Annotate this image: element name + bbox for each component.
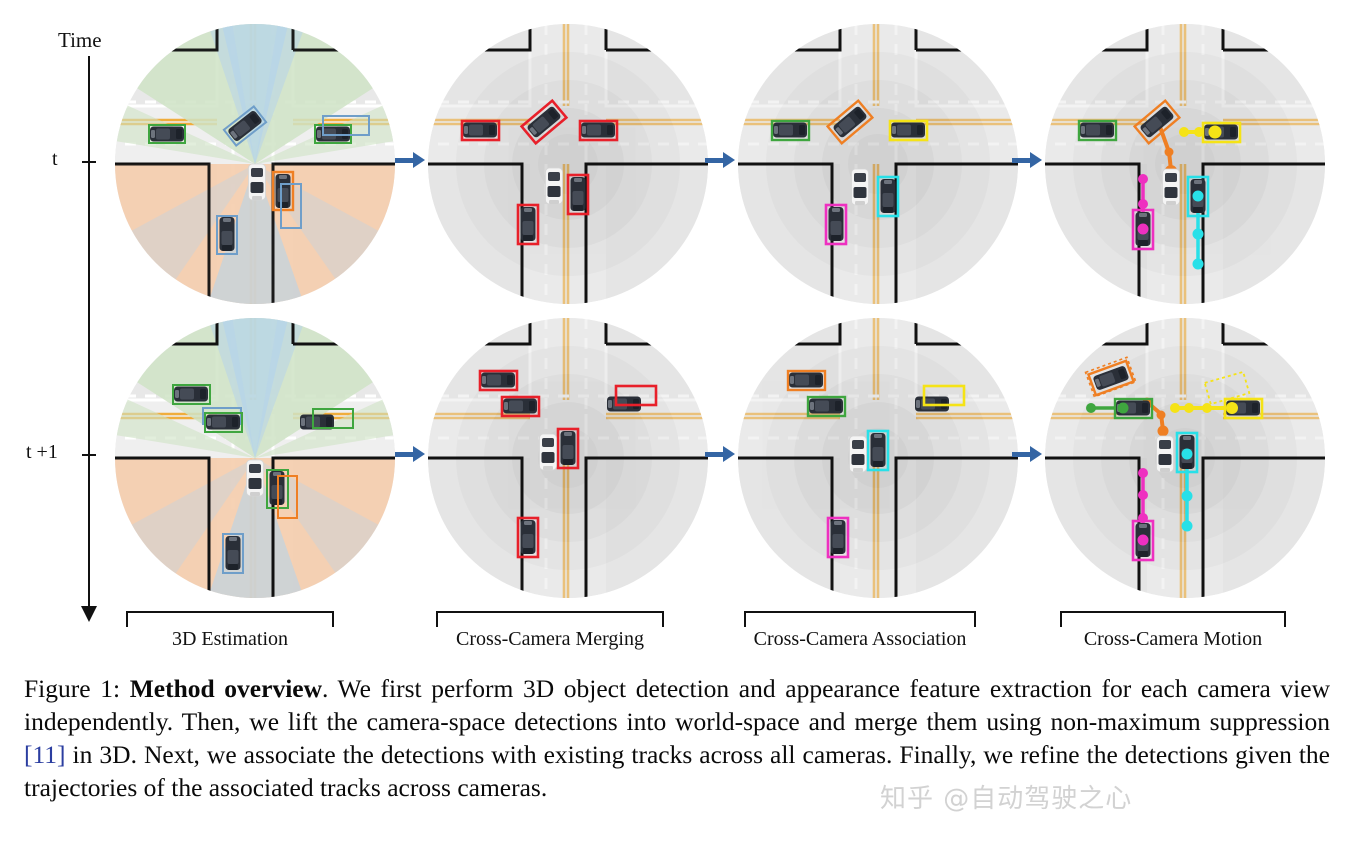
scene-motion-t <box>1035 24 1335 304</box>
track-box-orange <box>788 371 825 390</box>
time-tick-t <box>82 161 96 163</box>
detection-box-1 <box>462 121 499 140</box>
time-axis-title: Time <box>58 28 102 53</box>
ego-vehicle <box>850 436 867 472</box>
track-box-yellow <box>890 121 927 140</box>
ego-vehicle <box>1157 436 1174 472</box>
ego-vehicle <box>540 434 557 470</box>
track-box-cyan <box>868 431 888 470</box>
time-tick-label-t: t <box>52 148 58 171</box>
vehicle-green-left <box>149 125 185 143</box>
track-box-green <box>808 397 845 416</box>
scene-3d-estimation-t <box>105 24 405 304</box>
scene-merging-t1 <box>418 318 718 598</box>
scene-merging-t <box>418 24 718 304</box>
scene-association-t1 <box>728 318 1028 598</box>
bracket-3d-estimation <box>126 611 334 627</box>
caption-citation: [11] <box>24 740 66 769</box>
panel-cross-camera-motion-t <box>1035 24 1335 304</box>
ego-vehicle <box>247 460 264 496</box>
track-box-magenta <box>828 518 848 557</box>
detection-box-4 <box>568 175 588 214</box>
time-tick-label-t1: t +1 <box>26 441 58 464</box>
bracket-cross-camera-merging <box>436 611 664 627</box>
ego-vehicle <box>852 169 869 205</box>
detection-box-3 <box>580 121 617 140</box>
scene-association-t <box>728 24 1028 304</box>
ego-vehicle <box>249 164 266 200</box>
time-axis-line <box>88 56 90 612</box>
caption-figure-number: Figure 1: <box>24 674 120 703</box>
track-box-green <box>1079 121 1116 140</box>
track-box-magenta <box>826 205 846 244</box>
caption-body-2: in 3D. Next, we associate the detections… <box>24 740 1330 802</box>
panel-cross-camera-merging-t1 <box>418 318 718 598</box>
detection-box-2 <box>502 397 539 416</box>
panel-cross-camera-association-t1 <box>728 318 1028 598</box>
time-tick-t1 <box>82 454 96 456</box>
bracket-cross-camera-motion <box>1060 611 1286 627</box>
vehicle-green-b <box>205 413 242 432</box>
track-box-cyan <box>878 177 898 216</box>
stage-label-3d-estimation: 3D Estimation <box>126 628 334 651</box>
vehicle-green-a <box>173 385 210 404</box>
scene-3d-estimation-t1 <box>105 318 405 598</box>
panel-3d-estimation-t1 <box>105 318 405 598</box>
scene-motion-t1 <box>1035 318 1335 598</box>
track-box-green <box>772 121 809 140</box>
stage-label-cross-camera-merging: Cross-Camera Merging <box>426 628 674 651</box>
bracket-cross-camera-association <box>744 611 976 627</box>
panel-cross-camera-merging-t <box>418 24 718 304</box>
ego-vehicle <box>1163 169 1180 205</box>
vehicle-blue-down <box>217 216 237 254</box>
caption-bold-title: Method overview <box>130 674 322 703</box>
panel-3d-estimation-t <box>105 24 405 304</box>
figure-caption: Figure 1: Method overview. We first perf… <box>24 672 1330 804</box>
detection-box-5 <box>518 518 538 557</box>
stage-label-cross-camera-association: Cross-Camera Association <box>732 628 988 651</box>
detection-box-5 <box>518 205 538 244</box>
vehicle-blue-down <box>223 534 243 573</box>
detection-box-1 <box>480 371 517 390</box>
vehicle-orange-near <box>273 172 293 210</box>
detection-box-4 <box>558 429 578 468</box>
panel-cross-camera-motion-t1 <box>1035 318 1335 598</box>
time-axis-arrow-icon <box>81 606 97 622</box>
ego-vehicle <box>546 168 563 204</box>
stage-label-cross-camera-motion: Cross-Camera Motion <box>1055 628 1291 651</box>
figure-root: Time t t +1 <box>0 0 1350 849</box>
panel-cross-camera-association-t <box>728 24 1028 304</box>
